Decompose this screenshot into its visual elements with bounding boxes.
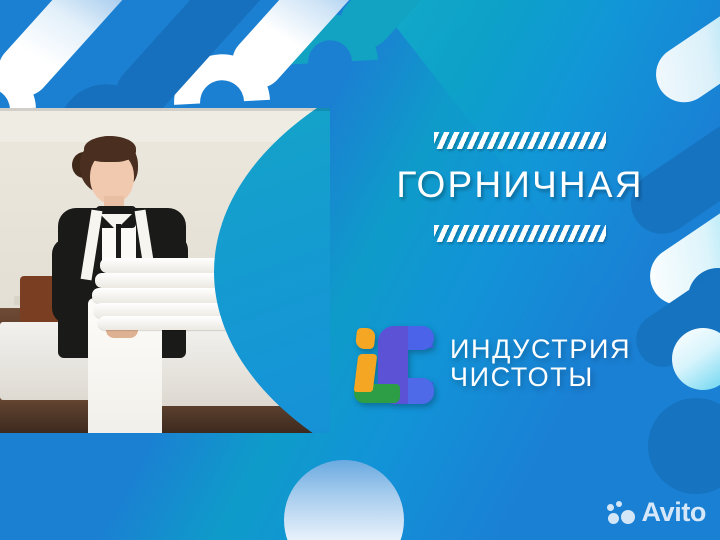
company-logo: ИНДУСТРИЯ ЧИСТОТЫ bbox=[352, 322, 631, 406]
photo-top-edge bbox=[0, 108, 330, 111]
hero-photo bbox=[0, 108, 330, 433]
photo-maid-hair-front bbox=[84, 136, 136, 162]
avito-watermark: Avito bbox=[607, 497, 707, 528]
page-title: ГОРНИЧНАЯ bbox=[355, 166, 685, 203]
logo-letter-i-dot bbox=[355, 328, 377, 349]
company-name-line-1: ИНДУСТРИЯ bbox=[450, 336, 631, 364]
company-logo-text: ИНДУСТРИЯ ЧИСТОТЫ bbox=[450, 336, 631, 391]
avito-wordmark: Avito bbox=[642, 497, 707, 528]
company-name-line-2: ЧИСТОТЫ bbox=[450, 364, 631, 392]
headline-block: ГОРНИЧНАЯ bbox=[355, 132, 685, 242]
photo-towel bbox=[98, 316, 236, 330]
hatch-decoration-top-icon bbox=[434, 132, 606, 149]
avito-logo-icon bbox=[607, 501, 637, 525]
ic-monogram-icon bbox=[352, 322, 436, 406]
hatch-decoration-bottom-icon bbox=[434, 225, 606, 242]
advertisement-banner: ГОРНИЧНАЯ ИНДУСТРИЯ ЧИСТОТЫ Avito bbox=[0, 0, 720, 540]
hero-photo-image bbox=[0, 108, 330, 433]
